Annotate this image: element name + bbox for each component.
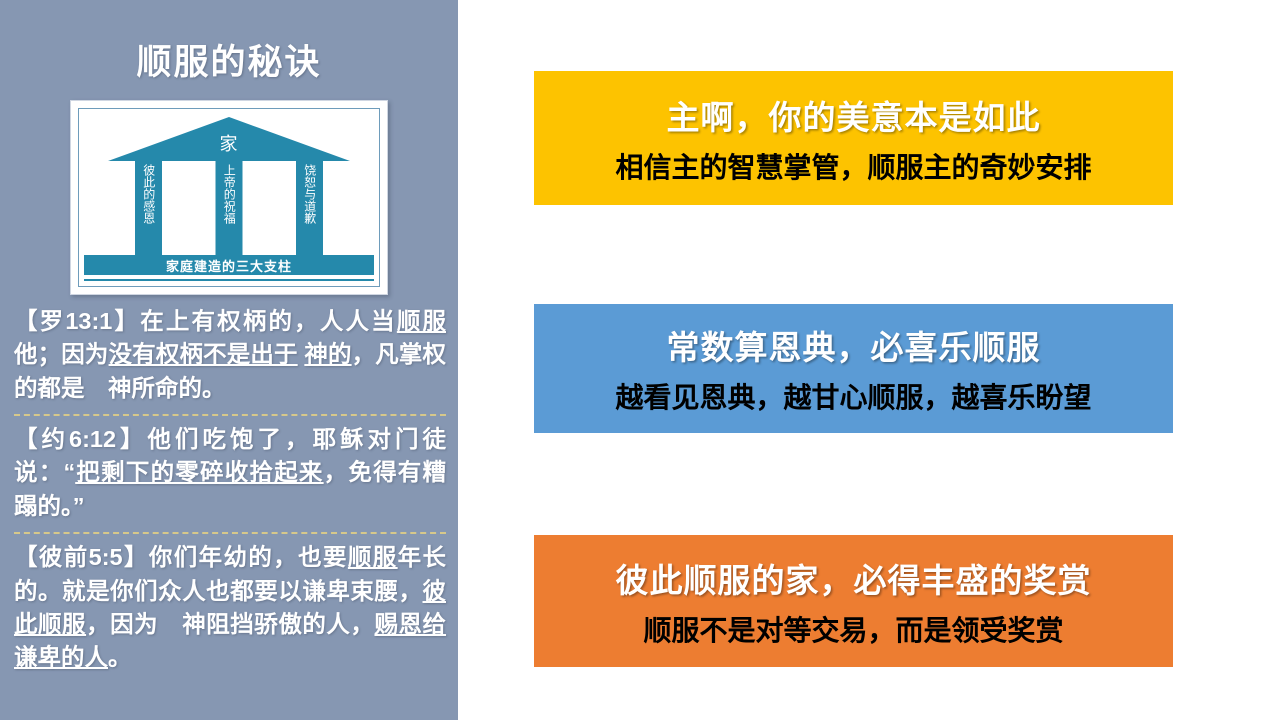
diagram-base-label: 家庭建造的三大支柱 [166, 256, 292, 275]
diagram-canvas: 家 彼此的感恩 上帝的祝福 饶恕与道歉 家庭建造的三大支柱 [78, 108, 380, 287]
passage-text: 【罗13:1】在上有权柄的，人人当 [14, 308, 397, 334]
passage-text: ，因为 神阻挡骄傲的人， [86, 611, 374, 637]
scripture-list: 【罗13:1】在上有权柄的，人人当顺服他；因为没有权柄不是出于 神的，凡掌权的都… [14, 305, 446, 678]
scripture-passage: 【约6:12】他们吃饱了，耶稣对门徒说：“把剩下的零碎收拾起来，免得有糟蹋的。” [14, 423, 446, 526]
panel-subheading: 相信主的智慧掌管，顺服主的奇妙安排 [615, 146, 1091, 186]
panel-subheading: 顺服不是对等交易，而是领受奖赏 [643, 609, 1063, 649]
passage-text: 。 [108, 644, 132, 670]
highlighted-phrase: 顺服 [397, 308, 446, 334]
scripture-passage: 【罗13:1】在上有权柄的，人人当顺服他；因为没有权柄不是出于 神的，凡掌权的都… [14, 305, 446, 408]
message-panel-2: 常数算恩典，必喜乐顺服 越看见恩典，越甘心顺服，越喜乐盼望 [534, 304, 1173, 433]
pillar-left-label: 彼此的感恩 [142, 164, 155, 224]
pillar-right-label: 饶恕与道歉 [303, 164, 316, 224]
roof-label: 家 [220, 130, 239, 156]
panel-heading: 主啊，你的美意本是如此 [667, 91, 1041, 139]
passage-divider [14, 414, 446, 416]
pillar-left: 彼此的感恩 [135, 160, 162, 255]
pillar-center-label: 上帝的祝福 [223, 164, 236, 224]
highlighted-phrase: 没有权柄不是出于 [109, 341, 298, 367]
passage-text: 他；因为 [14, 341, 109, 367]
diagram-base: 家庭建造的三大支柱 [84, 255, 374, 275]
panel-heading: 常数算恩典，必喜乐顺服 [667, 321, 1041, 369]
pillar-right: 饶恕与道歉 [296, 160, 323, 255]
family-pillars-diagram: 家 彼此的感恩 上帝的祝福 饶恕与道歉 家庭建造的三大支柱 [70, 100, 388, 295]
sidebar: 顺服的秘诀 家 彼此的感恩 上帝的祝福 饶恕与道歉 家庭建造的三大支柱 [0, 0, 458, 720]
panel-heading: 彼此顺服的家，必得丰盛的奖赏 [616, 554, 1092, 602]
pillar-center: 上帝的祝福 [216, 160, 243, 255]
message-panel-3: 彼此顺服的家，必得丰盛的奖赏 顺服不是对等交易，而是领受奖赏 [534, 535, 1173, 667]
diagram-base-rule [84, 279, 374, 281]
highlighted-phrase: 把剩下的零碎收拾起来 [75, 459, 323, 485]
highlighted-phrase: 神的 [304, 341, 351, 367]
message-panel-1: 主啊，你的美意本是如此 相信主的智慧掌管，顺服主的奇妙安排 [534, 71, 1173, 205]
passage-divider [14, 532, 446, 534]
scripture-passage: 【彼前5:5】你们年幼的，也要顺服年长的。就是你们众人也都要以谦卑束腰，彼此顺服… [14, 541, 446, 677]
highlighted-phrase: 顺服 [348, 544, 398, 570]
panel-subheading: 越看见恩典，越甘心顺服，越喜乐盼望 [615, 376, 1091, 416]
presentation-slide: 顺服的秘诀 家 彼此的感恩 上帝的祝福 饶恕与道歉 家庭建造的三大支柱 [0, 0, 1280, 720]
page-title: 顺服的秘诀 [0, 34, 458, 85]
passage-text: 【彼前5:5】你们年幼的，也要 [14, 544, 348, 570]
